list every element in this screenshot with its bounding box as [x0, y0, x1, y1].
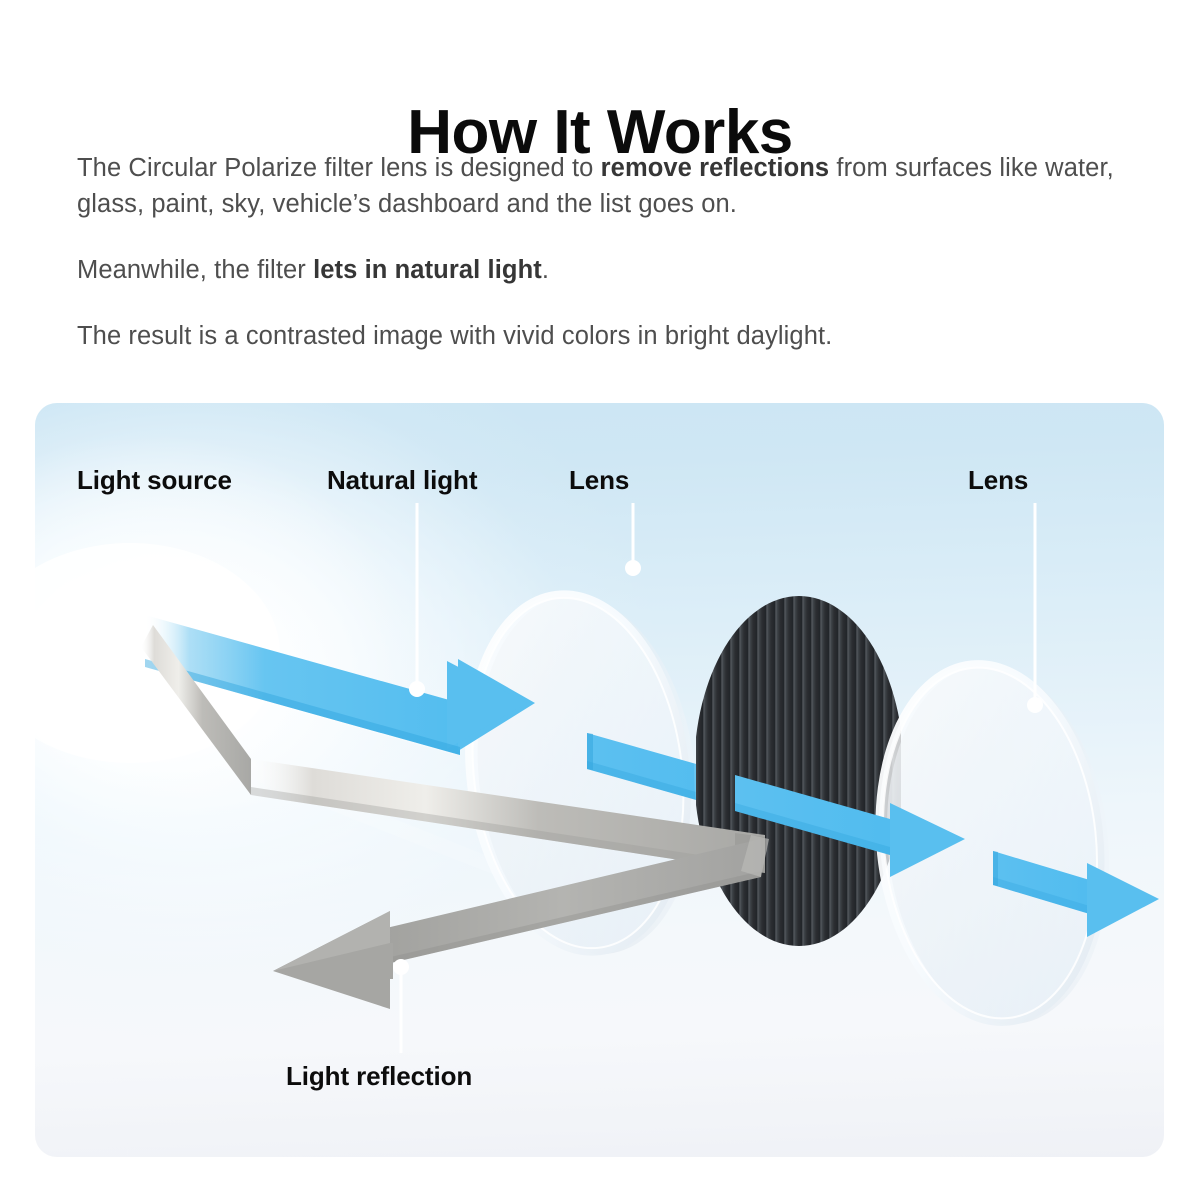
natural-light-arrow-outgoing: [1087, 863, 1159, 937]
diagram-label-lens-1: Lens: [569, 465, 629, 496]
leader-dot-lens-1: [625, 560, 641, 576]
body-text: .: [542, 256, 549, 284]
intro-paragraph-3: The result is a contrasted image with vi…: [77, 318, 1152, 354]
diagram-label-light-reflection: Light reflection: [286, 1061, 472, 1092]
intro-copy-block: The Circular Polarize filter lens is des…: [77, 150, 1152, 354]
body-text: Meanwhile, the filter: [77, 256, 313, 284]
body-text: The result is a contrasted image with vi…: [77, 322, 832, 350]
polarizer-filter-disc: [694, 583, 904, 963]
how-it-works-diagram-panel: Light source Natural light Lens Lens Lig…: [35, 403, 1164, 1157]
intro-paragraph-1: The Circular Polarize filter lens is des…: [77, 150, 1152, 222]
page-root: How It Works The Circular Polarize filte…: [0, 0, 1200, 1200]
emphasis-text: lets in natural light: [313, 256, 542, 284]
leader-dot-light-reflection: [393, 959, 409, 975]
diagram-label-natural-light: Natural light: [327, 465, 477, 496]
leader-dot-natural-light: [409, 681, 425, 697]
polarizer-slats: [696, 583, 901, 963]
polarizer-diagram-svg: [35, 403, 1164, 1157]
diagram-label-light-source: Light source: [77, 465, 232, 496]
diagram-label-lens-2: Lens: [968, 465, 1028, 496]
leader-dot-lens-2: [1027, 697, 1043, 713]
intro-paragraph-2: Meanwhile, the filter lets in natural li…: [77, 252, 1152, 288]
emphasis-text: remove reflections: [601, 154, 830, 182]
body-text: The Circular Polarize filter lens is des…: [77, 154, 601, 182]
